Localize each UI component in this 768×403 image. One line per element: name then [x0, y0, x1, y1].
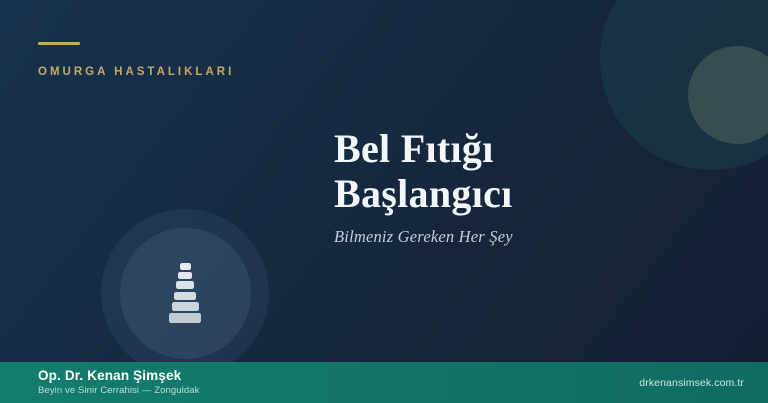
eyebrow-group: OMURGA HASTALIKLARI — [38, 42, 234, 78]
presentation-slide: OMURGA HASTALIKLARI Bel Fıtığı Başlangıc… — [0, 0, 768, 403]
spine-emblem-outer-circle — [101, 209, 269, 377]
subtitle: Bilmeniz Gereken Her Şey — [334, 227, 734, 247]
doctor-specialty: Beyin ve Sinir Cerrahisi — Zonguldak — [38, 386, 199, 396]
author-credit-group: Op. Dr. Kenan Şimşek Beyin ve Sinir Cerr… — [38, 369, 199, 396]
website-url[interactable]: drkenansimsek.com.tr — [639, 377, 744, 389]
vertebra-segment — [178, 272, 192, 279]
category-label: OMURGA HASTALIKLARI — [38, 66, 234, 78]
title-line-2: Başlangıcı — [334, 171, 734, 216]
vertebra-segment — [176, 281, 194, 289]
vertebra-segment — [174, 292, 196, 300]
title-group: Bel Fıtığı Başlangıcı Bilmeniz Gereken H… — [334, 126, 734, 247]
vertebra-segment — [180, 263, 191, 270]
vertebra-segment — [169, 313, 201, 323]
spine-emblem-inner-circle — [120, 228, 251, 359]
gold-accent-rule — [38, 42, 80, 45]
footer-bar: Op. Dr. Kenan Şimşek Beyin ve Sinir Cerr… — [0, 362, 768, 403]
doctor-name: Op. Dr. Kenan Şimşek — [38, 369, 199, 383]
title-line-1: Bel Fıtığı — [334, 126, 734, 171]
spine-vertebrae-icon — [169, 263, 201, 324]
vertebra-segment — [172, 302, 199, 311]
